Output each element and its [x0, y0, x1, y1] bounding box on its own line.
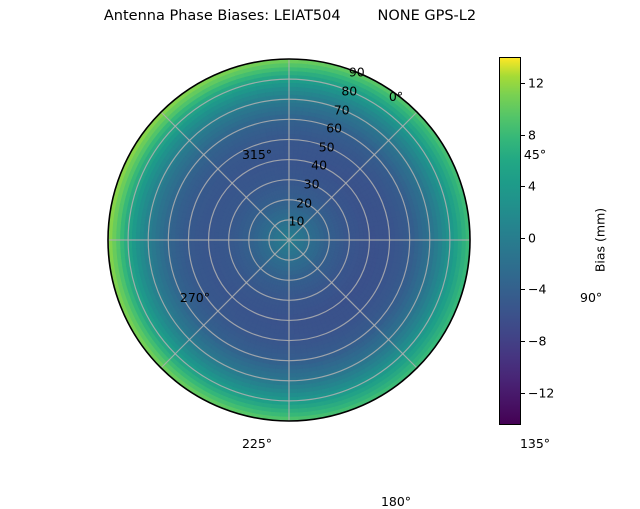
polar-heatmap: [107, 58, 471, 422]
polar-gridlines: [108, 59, 470, 421]
r-tick-80: 80: [341, 83, 357, 98]
colorbar-axes[interactable]: 12840−4−8−12: [499, 57, 521, 425]
r-tick-30: 30: [304, 177, 320, 192]
colorbar-ticklabel-0: 12: [528, 75, 544, 90]
page-title: Antenna Phase Biases: LEIAT504 NONE GPS-…: [0, 8, 580, 24]
colorbar-tickmark-0: [521, 83, 525, 84]
colorbar-ticklabel-6: −12: [528, 385, 554, 400]
colorbar-tickmark-4: [521, 289, 525, 290]
theta-tick-180: 180°: [381, 494, 411, 509]
r-tick-40: 40: [311, 158, 327, 173]
theta-tick-315: 315°: [242, 147, 272, 162]
colorbar-tickmark-1: [521, 135, 525, 136]
theta-tick-90: 90°: [580, 290, 602, 305]
r-tick-60: 60: [326, 121, 342, 136]
theta-tick-0: 0°: [389, 89, 403, 104]
colorbar-ticklabel-1: 8: [528, 127, 536, 142]
colorbar-gradient: [499, 57, 521, 425]
r-tick-10: 10: [289, 214, 305, 229]
colorbar-ticklabel-4: −4: [528, 282, 546, 297]
theta-tick-225: 225°: [242, 436, 272, 451]
colorbar-ticklabel-5: −8: [528, 334, 546, 349]
colorbar-ticklabel-2: 4: [528, 179, 536, 194]
theta-tick-45: 45°: [524, 147, 546, 162]
theta-tick-270: 270°: [180, 290, 210, 305]
theta-tick-135: 135°: [520, 436, 550, 451]
colorbar-tickmark-3: [521, 238, 525, 239]
colorbar-tickmark-6: [521, 393, 525, 394]
r-tick-70: 70: [334, 102, 350, 117]
figure-canvas: Antenna Phase Biases: LEIAT504 NONE GPS-…: [0, 0, 640, 480]
polar-axes[interactable]: 0° 45° 90° 135° 180° 225° 270° 315° 1020…: [107, 58, 471, 422]
r-tick-90: 90: [349, 65, 365, 80]
r-tick-20: 20: [296, 195, 312, 210]
r-tick-50: 50: [319, 139, 335, 154]
colorbar-axis-label: Bias (mm): [593, 208, 608, 272]
colorbar-tickmark-5: [521, 341, 525, 342]
colorbar-ticklabel-3: 0: [528, 230, 536, 245]
colorbar-tickmark-2: [521, 186, 525, 187]
